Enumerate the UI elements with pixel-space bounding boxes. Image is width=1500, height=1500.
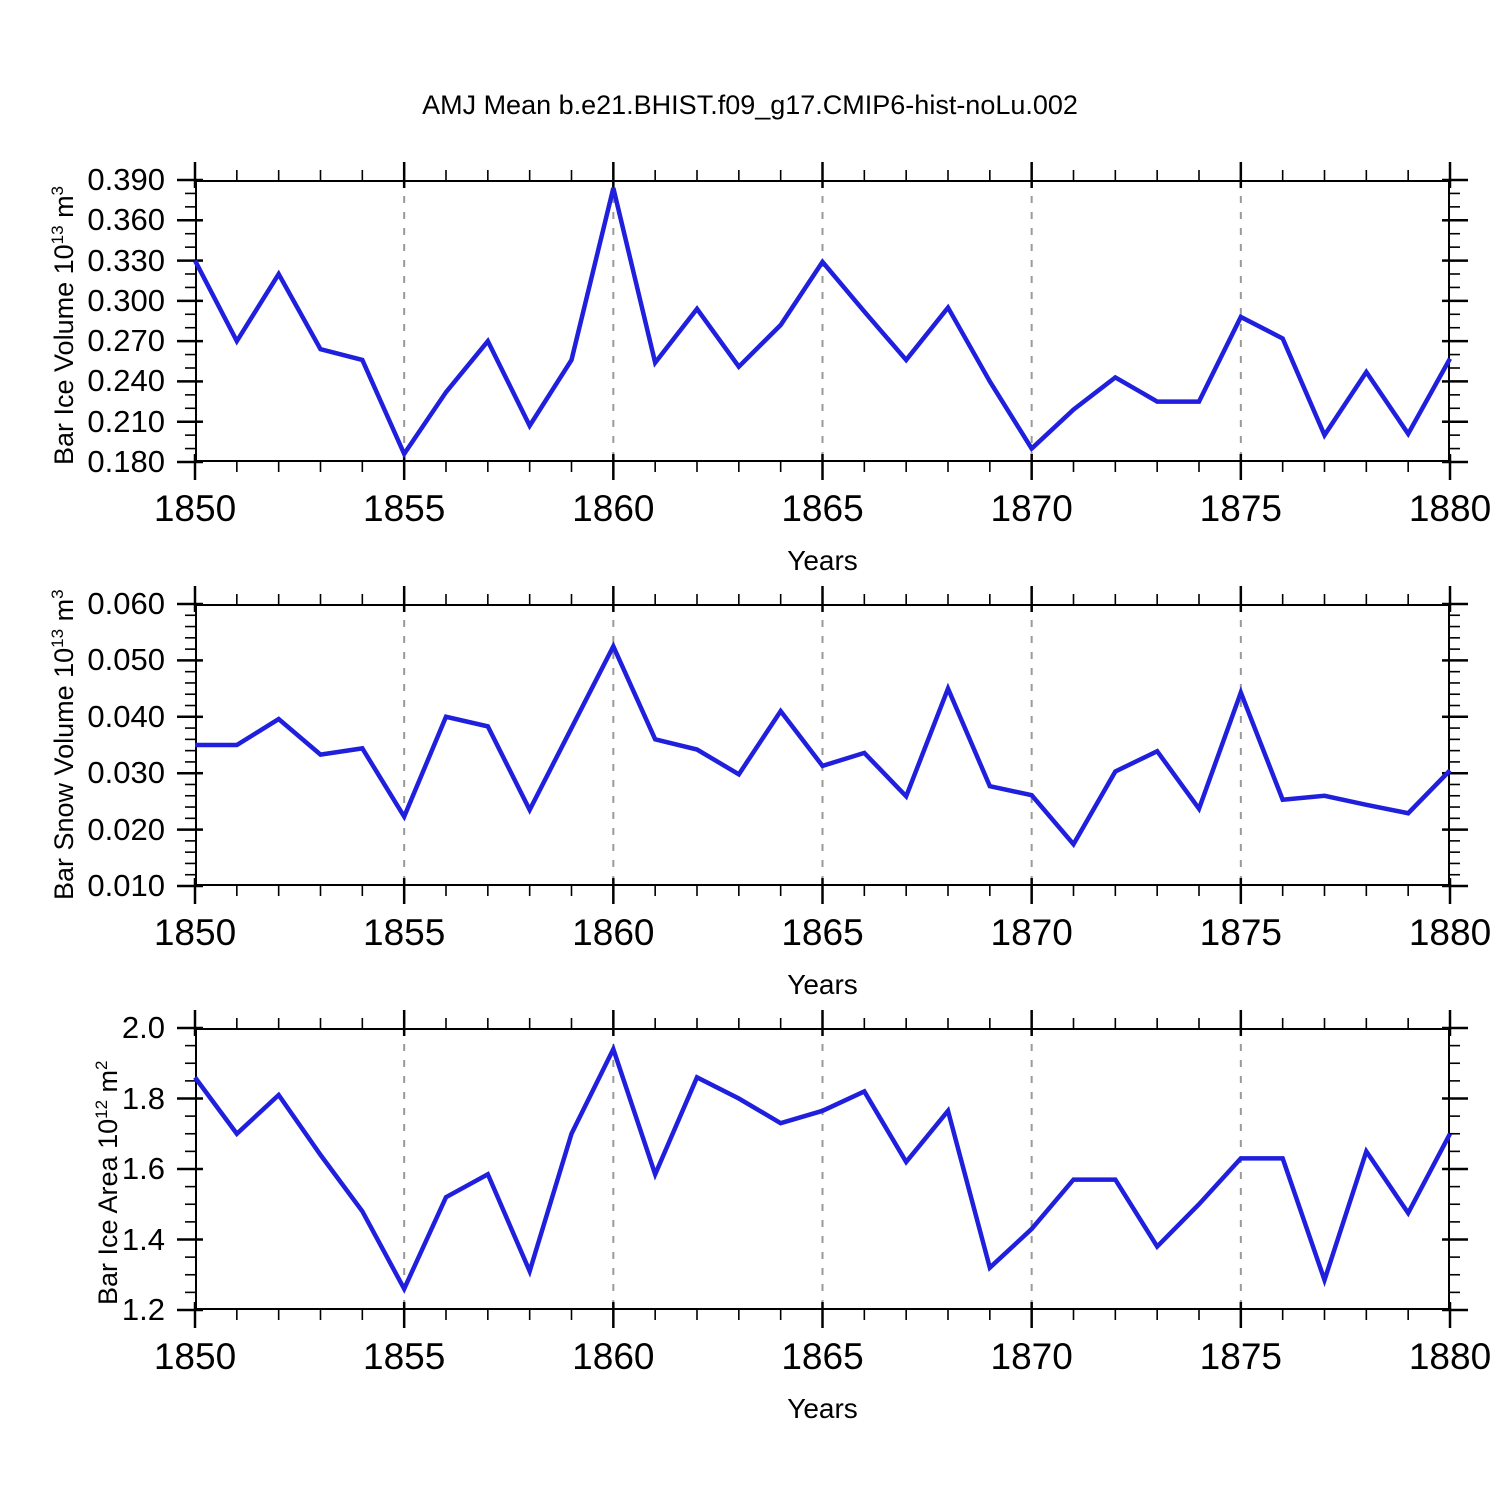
x-axis-label: Years xyxy=(787,1393,858,1425)
y-tick-label: 1.8 xyxy=(0,1081,165,1117)
chart-page: AMJ Mean b.e21.BHIST.f09_g17.CMIP6-hist-… xyxy=(0,0,1500,1500)
x-tick-label: 1875 xyxy=(1200,1336,1282,1378)
plot-svg-ice-area xyxy=(0,0,1500,1440)
x-tick-label: 1865 xyxy=(781,1336,863,1378)
y-tick-label: 1.2 xyxy=(0,1292,165,1328)
y-tick-label: 1.6 xyxy=(0,1151,165,1187)
y-tick-label: 2.0 xyxy=(0,1010,165,1046)
panel-ice-area: Bar Ice Area 1012 m2 2.01.81.61.41.21850… xyxy=(0,0,1500,1440)
x-tick-label: 1860 xyxy=(572,1336,654,1378)
y-tick-label: 1.4 xyxy=(0,1222,165,1258)
x-tick-label: 1870 xyxy=(991,1336,1073,1378)
x-tick-label: 1850 xyxy=(154,1336,236,1378)
x-tick-label: 1855 xyxy=(363,1336,445,1378)
x-tick-label: 1880 xyxy=(1409,1336,1491,1378)
